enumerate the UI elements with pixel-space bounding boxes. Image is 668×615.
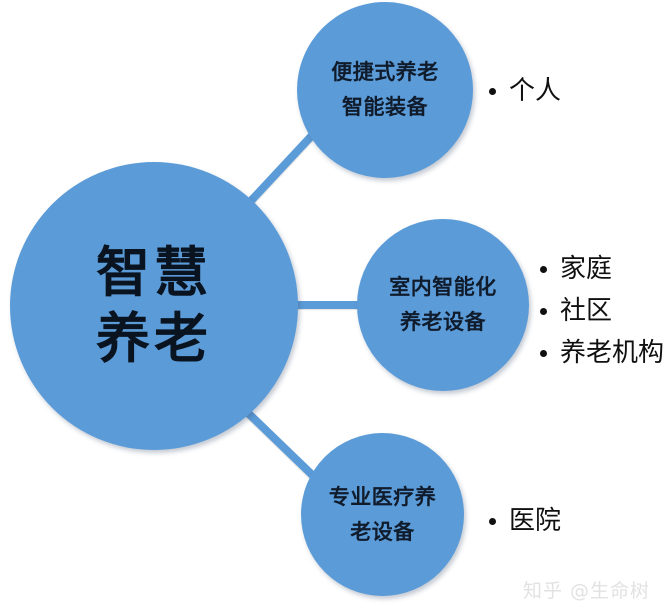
list-item-label: 社区	[560, 290, 612, 332]
list-item: 个人	[489, 70, 561, 112]
list-item: 养老机构	[540, 332, 664, 374]
bullet-dot-icon	[540, 350, 547, 357]
branch-node-indoor-equipment[interactable]: 室内智能化 养老设备	[357, 219, 529, 391]
branch-node-portable-equipment[interactable]: 便捷式养老 智能装备	[297, 2, 473, 178]
branch-node-indoor-line-1: 室内智能化	[389, 270, 497, 305]
list-item: 家庭	[540, 248, 664, 290]
center-node-line-1: 智慧	[96, 240, 212, 306]
list-item-label: 养老机构	[560, 332, 664, 374]
bullet-dot-icon	[540, 266, 547, 273]
list-item-label: 个人	[509, 70, 561, 112]
list-item-label: 家庭	[560, 248, 612, 290]
list-item-label: 医院	[509, 500, 561, 542]
list-item: 医院	[489, 500, 561, 542]
target-list-indoor: 家庭 社区 养老机构	[540, 248, 664, 374]
center-node-smart-elderly-care[interactable]: 智慧 养老	[10, 162, 298, 450]
bullet-dot-icon	[489, 518, 496, 525]
watermark: 知乎 @生命树	[523, 576, 650, 603]
branch-node-portable-line-1: 便捷式养老	[331, 55, 439, 90]
branch-node-medical-line-2: 老设备	[350, 515, 415, 550]
bullet-dot-icon	[540, 308, 547, 315]
branch-node-medical-equipment[interactable]: 专业医疗养 老设备	[301, 433, 464, 596]
branch-node-medical-line-1: 专业医疗养	[329, 480, 437, 515]
center-node-line-2: 养老	[96, 306, 212, 372]
target-list-medical: 医院	[489, 500, 561, 542]
target-list-portable: 个人	[489, 70, 561, 112]
bullet-dot-icon	[489, 88, 496, 95]
list-item: 社区	[540, 290, 664, 332]
branch-node-portable-line-2: 智能装备	[342, 90, 428, 125]
diagram-canvas: 智慧 养老 便捷式养老 智能装备 室内智能化 养老设备 专业医疗养 老设备 个人…	[0, 0, 668, 615]
branch-node-indoor-line-2: 养老设备	[400, 305, 486, 340]
